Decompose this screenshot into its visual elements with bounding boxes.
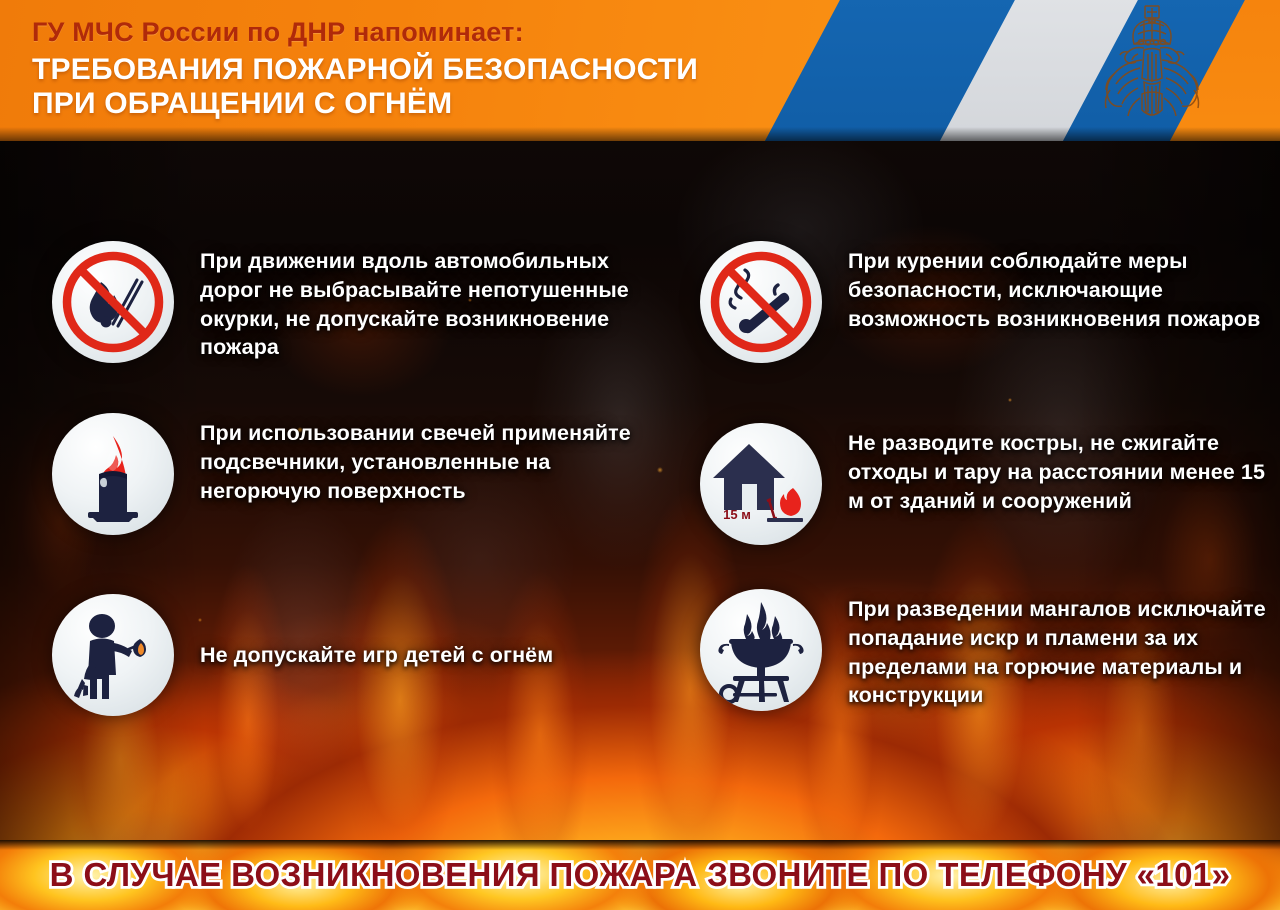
child-with-matches-icon [52,594,174,716]
bbq-grill-fire-icon [700,589,822,711]
candle-holder-icon [52,413,174,535]
no-open-flame-match-icon [52,241,174,363]
poster-header: ГУ МЧС России по ДНР напоминает: ТРЕБОВА… [0,0,1280,141]
right-column: При курении соблюдайте меры безопасности… [640,141,1280,841]
header-title-line1: ТРЕБОВАНИЯ ПОЖАРНОЙ БЕЗОПАСНОСТИ [32,53,698,86]
header-bottom-shadow [0,127,1280,141]
rule-item: 15 м Не разводите костры, не сжигайте от… [700,423,1275,545]
emergency-call-banner: В СЛУЧАЕ ВОЗНИКНОВЕНИЯ ПОЖАРА ЗВОНИТЕ ПО… [0,840,1280,910]
poster-content: При движении вдоль автомобильных дорог н… [0,141,1280,841]
rule-item: При курении соблюдайте меры безопасности… [700,241,1275,363]
mchs-double-headed-eagle-emblem [1094,2,1210,141]
left-column: При движении вдоль автомобильных дорог н… [0,141,640,841]
emergency-call-text: В СЛУЧАЕ ВОЗНИКНОВЕНИЯ ПОЖАРА ЗВОНИТЕ ПО… [0,840,1280,910]
rule-text: При разведении мангалов исключайте попад… [822,589,1275,710]
rule-text: Не разводите костры, не сжигайте отходы … [822,423,1275,515]
rule-text: При движении вдоль автомобильных дорог н… [174,241,652,362]
rule-text: При использовании свечей применяйте подс… [174,413,652,505]
header-kicker: ГУ МЧС России по ДНР напоминает: [32,18,832,47]
rule-item: Не допускайте игр детей с огнём [52,594,652,716]
header-titles: ГУ МЧС России по ДНР напоминает: ТРЕБОВА… [32,18,832,121]
header-title-line2: ПРИ ОБРАЩЕНИИ С ОГНЁМ [32,87,832,121]
house-distance-label: 15 м [723,507,751,522]
rule-item: При использовании свечей применяйте подс… [52,413,652,535]
header-title: ТРЕБОВАНИЯ ПОЖАРНОЙ БЕЗОПАСНОСТИ ПРИ ОБР… [32,53,832,121]
rule-text: Не допускайте игр детей с огнём [174,641,553,670]
fire-safety-poster: ГУ МЧС России по ДНР напоминает: ТРЕБОВА… [0,0,1280,910]
rule-text: При курении соблюдайте меры безопасности… [822,241,1275,333]
rule-item: При разведении мангалов исключайте попад… [700,589,1275,711]
no-smoking-icon [700,241,822,363]
house-distance-fire-icon: 15 м [700,423,822,545]
rule-item: При движении вдоль автомобильных дорог н… [52,241,652,363]
